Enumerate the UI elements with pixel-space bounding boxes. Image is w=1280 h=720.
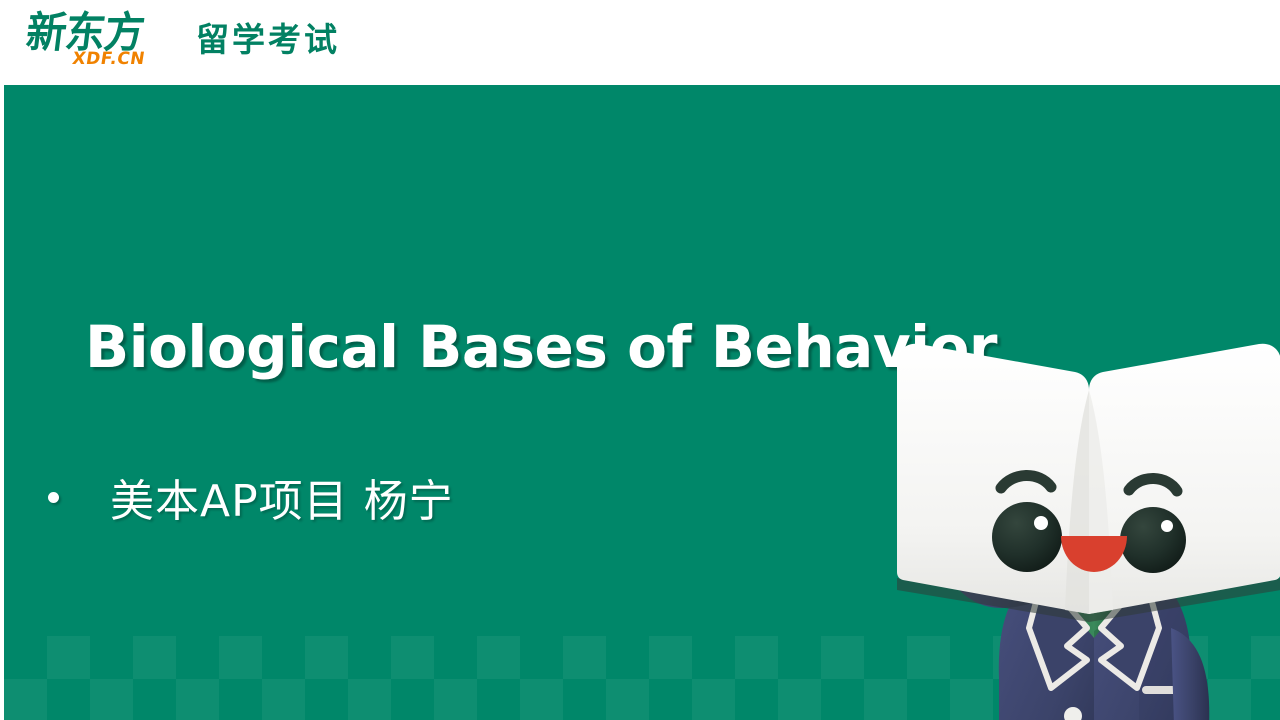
bullet-dot-icon xyxy=(48,492,59,503)
bullet-list-item: 美本AP项目 杨宁 xyxy=(48,465,454,529)
logo-url-text: XDF.CN xyxy=(71,49,147,69)
slide-body-panel: Biological Bases of Behavior 美本AP项目 杨宁 新… xyxy=(4,85,1280,720)
slide-canvas: 新东方 XDF.CN 留学考试 Biological Bases of Beha… xyxy=(0,0,1280,720)
slide-title: Biological Bases of Behavior xyxy=(85,313,997,381)
slide-header: 新东方 XDF.CN 留学考试 xyxy=(0,0,1280,85)
logo-suffix-label: 留学考试 xyxy=(196,20,340,60)
xdf-logo-mark: 新东方 XDF.CN xyxy=(28,8,176,70)
bullet-item-label: 美本AP项目 杨宁 xyxy=(110,465,454,529)
mascot-book-head xyxy=(897,344,1280,622)
book-head-mascot xyxy=(889,328,1280,720)
brand-logo-block: 新东方 XDF.CN 留学考试 xyxy=(28,8,368,70)
